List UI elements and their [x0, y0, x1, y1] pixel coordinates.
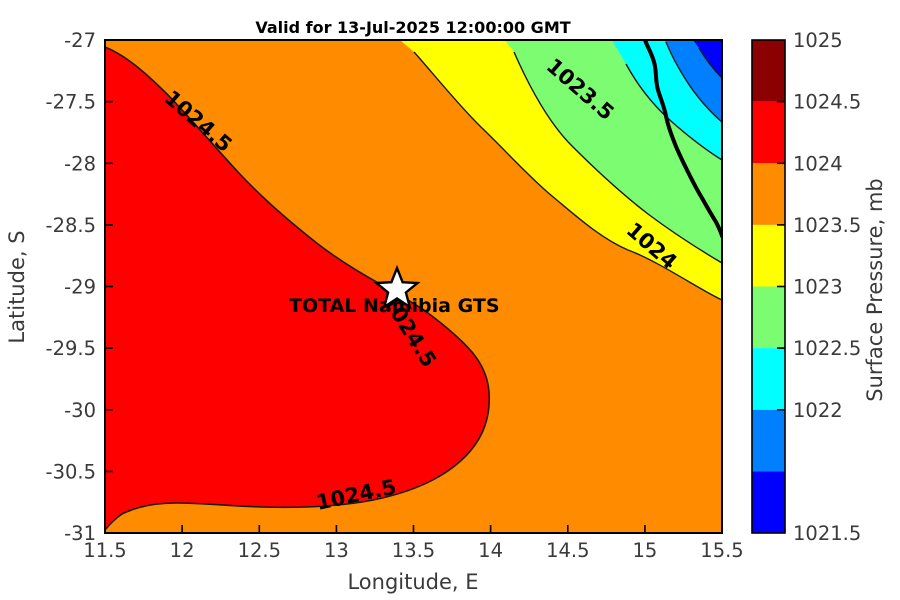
colorbar-swatch-1	[752, 102, 785, 164]
colorbar-swatch-2	[752, 163, 785, 225]
y-axis-title: Latitude, S	[5, 230, 29, 343]
y-tick-label-7: -30.5	[46, 460, 96, 483]
y-tick-label-2: -28	[64, 152, 96, 175]
y-tick-label-5: -29.5	[46, 337, 96, 360]
x-axis-title: Longitude, E	[347, 570, 478, 594]
x-tick-label-2: 12.5	[238, 539, 281, 562]
colorbar-tick-label-6: 1022	[793, 399, 843, 422]
x-tick-label-5: 14	[478, 539, 503, 562]
colorbar-tick-label-5: 1022.5	[793, 337, 861, 360]
y-tick-label-1: -27.5	[46, 91, 96, 114]
y-tick-label-3: -28.5	[46, 214, 96, 237]
x-tick-label-4: 13.5	[392, 539, 435, 562]
contour-field: 1024.5 1023.5 1024 1024.5 1024.5 TOTAL N…	[105, 40, 722, 533]
colorbar-tick-label-1: 1024.5	[793, 91, 861, 114]
y-tick-label-6: -30	[64, 399, 96, 422]
figure-canvas: Valid for 13-Jul-2025 12:00:00 GMT	[0, 0, 900, 600]
y-tick-label-8: -31	[64, 522, 96, 545]
colorbar-title: Surface Pressure, mb	[863, 178, 887, 401]
colorbar-swatch-6	[752, 410, 785, 472]
x-tick-label-1: 12	[170, 539, 195, 562]
y-tick-label-4: -29	[64, 276, 96, 299]
x-tick-label-8: 15.5	[700, 539, 743, 562]
y-tick-label-0: -27	[64, 29, 96, 52]
colorbar-swatch-0	[752, 40, 785, 102]
weather-map-figure: Valid for 13-Jul-2025 12:00:00 GMT	[0, 0, 900, 600]
colorbar-tick-label-2: 1024	[793, 152, 843, 175]
colorbar-swatch-5	[752, 348, 785, 410]
colorbar-tick-label-0: 1025	[793, 29, 843, 52]
colorbar-tick-label-7: 1021.5	[793, 522, 861, 545]
colorbar-swatch-3	[752, 225, 785, 287]
colorbar-tick-label-4: 1023	[793, 276, 843, 299]
x-tick-label-7: 15	[632, 539, 657, 562]
x-tick-label-3: 13	[324, 539, 349, 562]
colorbar-swatch-4	[752, 287, 785, 349]
colorbar-tick-label-3: 1023.5	[793, 214, 861, 237]
x-tick-label-6: 14.5	[546, 539, 589, 562]
colorbar-swatch-7	[752, 471, 785, 533]
figure-title: Valid for 13-Jul-2025 12:00:00 GMT	[255, 18, 570, 37]
